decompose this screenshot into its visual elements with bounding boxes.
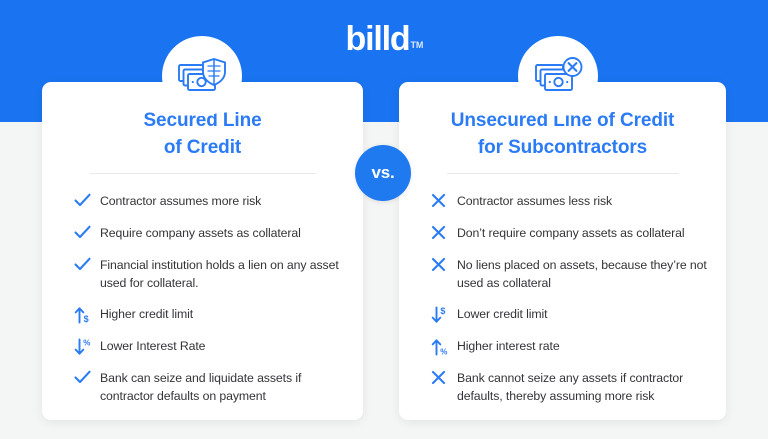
unsecured-feature-list: Contractor assumes less risk Don’t requi… <box>431 192 713 418</box>
billd-logo: billdTM <box>0 22 768 56</box>
list-item-text: Higher credit limit <box>100 305 193 323</box>
vs-badge: vs. <box>355 145 411 201</box>
arrow-up-percent-icon: % <box>431 337 457 356</box>
secured-heading: Secured Line of Credit <box>52 108 353 162</box>
svg-text:$: $ <box>84 314 89 324</box>
x-icon <box>431 369 457 388</box>
list-item-text: No liens placed on assets, because they’… <box>457 256 713 292</box>
arrow-down-percent-icon: % <box>74 337 100 356</box>
list-item: % Higher interest rate <box>431 337 713 356</box>
check-icon <box>74 224 100 243</box>
list-item: Require company assets as collateral <box>74 224 346 243</box>
list-item-text: Financial institution holds a lien on an… <box>100 256 346 292</box>
x-icon <box>431 224 457 243</box>
arrow-down-dollar-icon: $ <box>431 305 457 324</box>
list-item-text: Higher interest rate <box>457 337 560 355</box>
unsecured-divider <box>447 173 679 174</box>
list-item: Don’t require company assets as collater… <box>431 224 713 243</box>
list-item: No liens placed on assets, because they’… <box>431 256 713 292</box>
check-icon <box>74 192 100 211</box>
list-item-text: Lower credit limit <box>457 305 547 323</box>
unsecured-heading-line2: for Subcontractors <box>478 137 647 158</box>
list-item-text: Require company assets as collateral <box>100 224 301 242</box>
svg-text:%: % <box>83 339 90 348</box>
unsecured-heading: Unsecured Line of Credit for Subcontract… <box>409 108 716 162</box>
svg-text:%: % <box>440 348 447 357</box>
logo-wordmark: billd <box>346 20 410 58</box>
list-item: $ Lower credit limit <box>431 305 713 324</box>
check-icon <box>74 369 100 388</box>
secured-heading-line2: of Credit <box>164 137 241 158</box>
list-item: Financial institution holds a lien on an… <box>74 256 346 292</box>
secured-divider <box>90 173 316 174</box>
arrow-up-dollar-icon: $ <box>74 305 100 324</box>
secured-feature-list: Contractor assumes more risk Require com… <box>74 192 346 418</box>
list-item-text: Don’t require company assets as collater… <box>457 224 685 242</box>
trademark-icon: TM <box>410 40 423 50</box>
list-item: Contractor assumes more risk <box>74 192 346 211</box>
x-icon <box>431 192 457 211</box>
list-item: % Lower Interest Rate <box>74 337 346 356</box>
infographic-root: billdTM Secured Line of Credit Contracto… <box>0 0 768 439</box>
svg-text:$: $ <box>440 306 445 316</box>
list-item-text: Lower Interest Rate <box>100 337 205 355</box>
list-item: Bank cannot seize any assets if contract… <box>431 369 713 405</box>
check-icon <box>74 256 100 275</box>
list-item-text: Bank can seize and liquidate assets if c… <box>100 369 346 405</box>
list-item-text: Bank cannot seize any assets if contract… <box>457 369 713 405</box>
list-item-text: Contractor assumes less risk <box>457 192 612 210</box>
list-item: $ Higher credit limit <box>74 305 346 324</box>
list-item-text: Contractor assumes more risk <box>100 192 261 210</box>
x-icon <box>431 256 457 275</box>
list-item: Contractor assumes less risk <box>431 192 713 211</box>
list-item: Bank can seize and liquidate assets if c… <box>74 369 346 405</box>
